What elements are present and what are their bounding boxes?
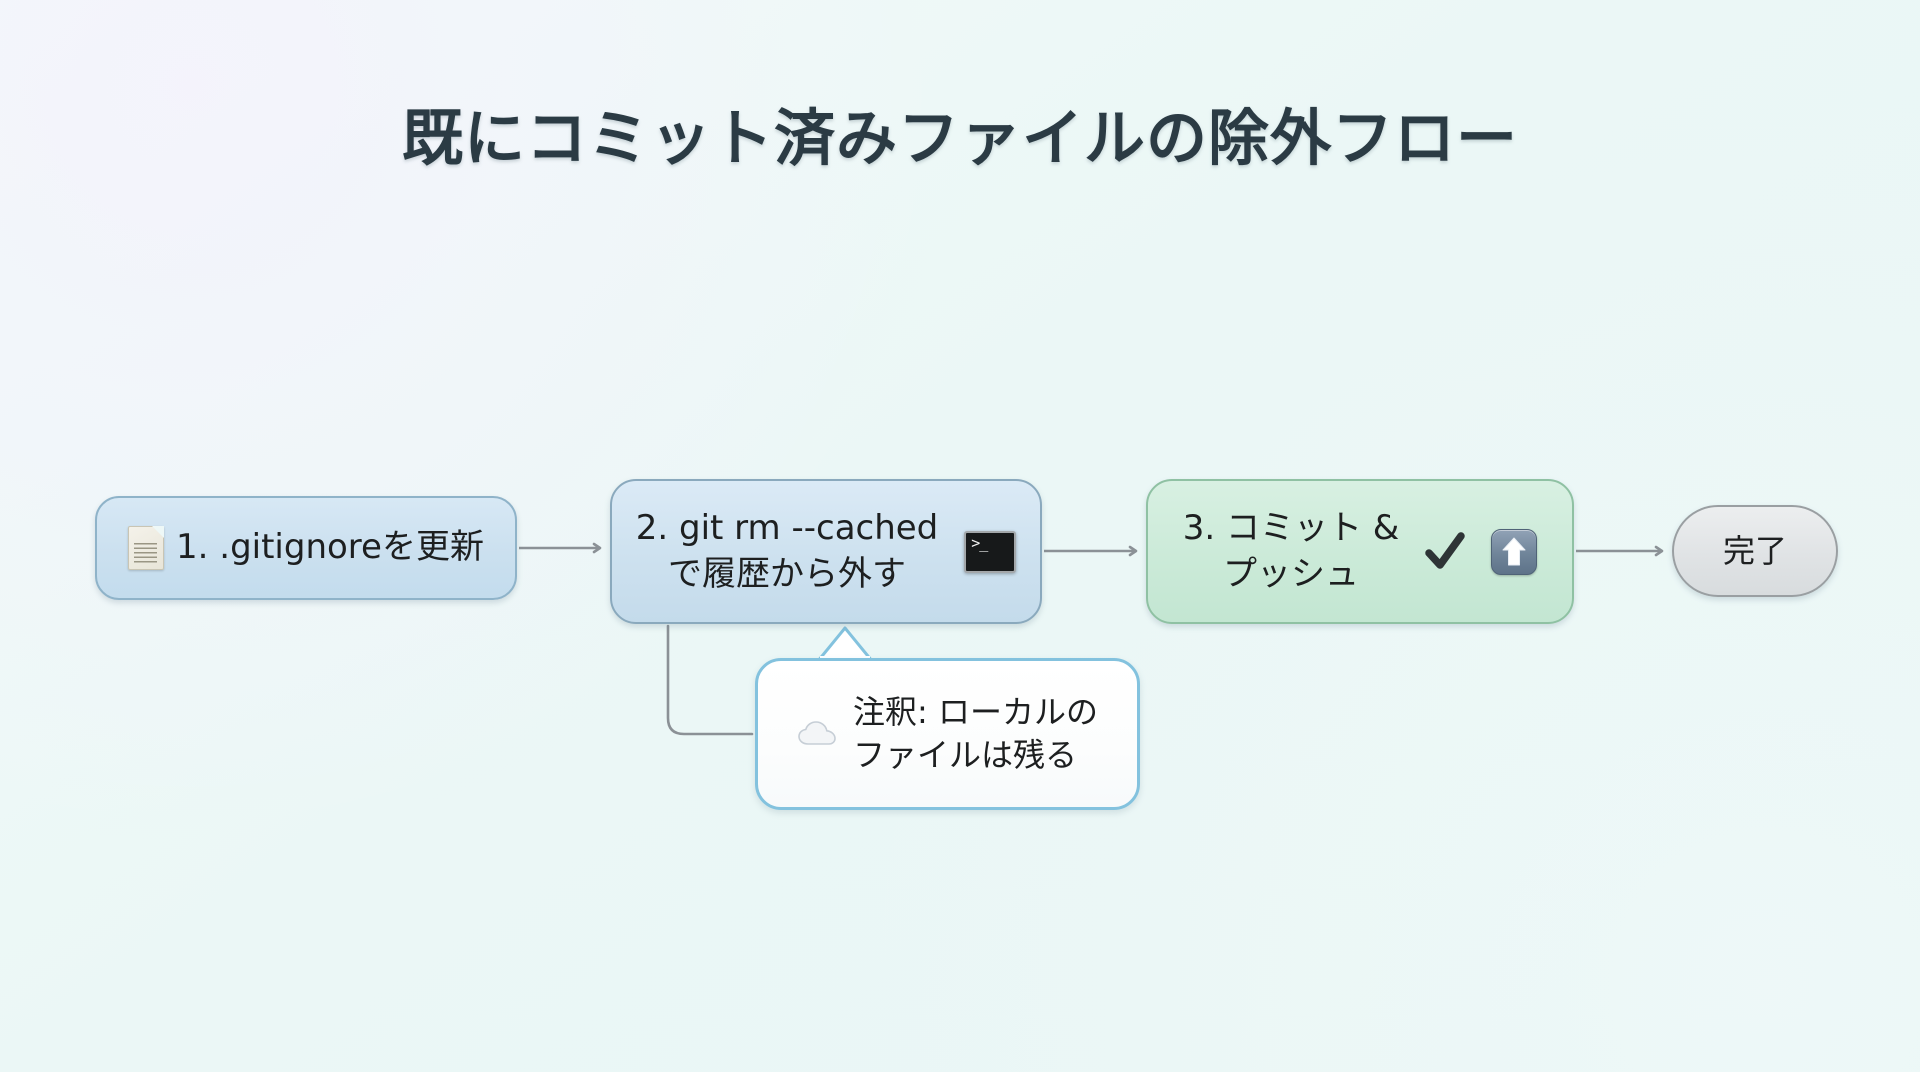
- flow-node-1[interactable]: 1. .gitignoreを更新: [95, 496, 517, 600]
- note-callout[interactable]: 注釈: ローカルの ファイルは残る: [755, 658, 1140, 810]
- slide-canvas: 既にコミット済みファイルの除外フロー 1. .gitignoreを更新 2. g…: [0, 0, 1920, 1072]
- document-icon: [128, 526, 164, 570]
- terminal-prompt-glyph: >_: [971, 536, 987, 551]
- flow-node-3[interactable]: 3. コミット & プッシュ: [1146, 479, 1574, 624]
- edge-node2-note: [668, 626, 752, 734]
- flow-node-2-label: 2. git rm --cached で履歴から外す: [636, 506, 939, 597]
- note-pointer-notch: [818, 628, 872, 661]
- page-title: 既にコミット済みファイルの除外フロー: [0, 88, 1920, 177]
- terminal-icon: >_: [964, 531, 1016, 573]
- flow-node-2[interactable]: 2. git rm --cached で履歴から外す >_: [610, 479, 1042, 624]
- flow-node-end-label: 完了: [1723, 530, 1787, 573]
- flow-node-3-label: 3. コミット & プッシュ: [1183, 506, 1400, 597]
- cloud-icon: [797, 719, 839, 749]
- check-icon: [1423, 530, 1467, 574]
- flow-node-1-label: 1. .gitignoreを更新: [176, 525, 484, 571]
- note-callout-label: 注釈: ローカルの ファイルは残る: [853, 691, 1098, 777]
- flow-node-end[interactable]: 完了: [1672, 505, 1838, 597]
- up-arrow-button-icon: [1491, 529, 1537, 575]
